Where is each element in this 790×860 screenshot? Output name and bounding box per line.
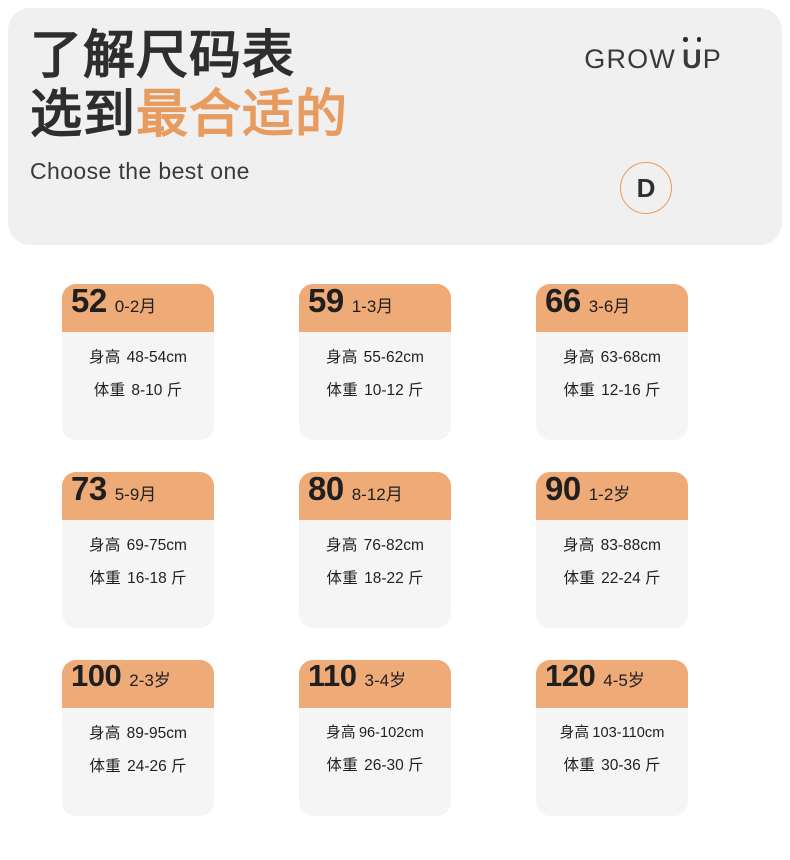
brand-logo-u-text: U [682,44,703,74]
size-card-body: 身高 103-110cm 体重 30-36 斤 [536,708,688,816]
weight-value: 8-10 斤 [131,378,182,400]
headline-line-2-dark-text: 选到 [30,86,136,144]
height-value: 96-102cm [359,725,424,741]
size-card-body: 身高 63-68cm 体重 12-16 斤 [536,332,688,440]
size-card-size: 120 [545,660,595,691]
weight-row: 体重 24-26 斤 [89,754,186,776]
height-row: 身高 76-82cm [326,533,424,555]
height-value: 69-75cm [127,537,187,555]
size-card-header: 73 5-9月 [62,472,214,520]
height-row: 身高 63-68cm [563,345,661,367]
weight-value: 10-12 斤 [364,378,423,400]
size-card-age: 8-12月 [352,486,403,503]
size-card-body: 身高 69-75cm 体重 16-18 斤 [62,520,214,628]
size-card-body: 身高 96-102cm 体重 26-30 斤 [299,708,451,816]
size-card[interactable]: 80 8-12月 身高 76-82cm 体重 18-22 斤 [299,472,451,628]
size-card-header: 120 4-5岁 [536,660,688,708]
height-value: 55-62cm [364,349,424,367]
height-value: 48-54cm [127,349,187,367]
size-card[interactable]: 110 3-4岁 身高 96-102cm 体重 26-30 斤 [299,660,451,816]
size-card[interactable]: 90 1-2岁 身高 83-88cm 体重 22-24 斤 [536,472,688,628]
brand-logo-grow-text: GROW [584,44,676,75]
height-label: 身高 [563,345,595,367]
size-card-size: 59 [308,284,344,317]
size-card-size: 80 [308,472,344,505]
size-card-header: 110 3-4岁 [299,660,451,708]
size-card-size: 100 [71,660,121,691]
badge-d: D [620,162,672,214]
height-label: 身高 [326,533,358,555]
weight-label: 体重 [89,754,121,776]
height-label: 身高 [326,345,358,367]
size-chart-page: 了解尺码表 选到最合适的 Choose the best one GROW U … [0,0,790,860]
weight-row: 体重 12-16 斤 [563,378,660,400]
size-card-age: 0-2月 [115,298,157,315]
weight-value: 22-24 斤 [601,566,660,588]
brand-logo-u-wrap: U [682,44,703,75]
height-row: 身高 55-62cm [326,345,424,367]
size-card-size: 73 [71,472,107,505]
size-card-age: 3-4岁 [365,672,407,689]
size-card-size: 52 [71,284,107,317]
size-card-header: 100 2-3岁 [62,660,214,708]
size-card-age: 2-3岁 [129,672,171,689]
size-card-age: 5-9月 [115,486,157,503]
height-label: 身高 [89,721,121,743]
weight-row: 体重 18-22 斤 [326,566,423,588]
size-card-header: 66 3-6月 [536,284,688,332]
size-card-header: 59 1-3月 [299,284,451,332]
weight-row: 体重 16-18 斤 [89,566,186,588]
weight-row: 体重 22-24 斤 [563,566,660,588]
weight-value: 12-16 斤 [601,378,660,400]
size-card-header: 52 0-2月 [62,284,214,332]
height-label: 身高 [560,721,590,742]
headline-subtitle: Choose the best one [30,158,550,185]
size-card-body: 身高 48-54cm 体重 8-10 斤 [62,332,214,440]
weight-row: 体重 10-12 斤 [326,378,423,400]
size-card-body: 身高 83-88cm 体重 22-24 斤 [536,520,688,628]
size-card-age: 4-5岁 [603,672,645,689]
height-label: 身高 [89,345,121,367]
headline-line-2: 选到最合适的 [30,89,550,142]
weight-label: 体重 [563,378,595,400]
weight-value: 26-30 斤 [364,753,423,775]
header-panel: 了解尺码表 选到最合适的 Choose the best one GROW U … [8,8,782,245]
size-card[interactable]: 120 4-5岁 身高 103-110cm 体重 30-36 斤 [536,660,688,816]
height-label: 身高 [563,533,595,555]
weight-label: 体重 [563,566,595,588]
weight-label: 体重 [326,753,358,775]
height-value: 83-88cm [601,537,661,555]
weight-value: 18-22 斤 [364,566,423,588]
weight-row: 体重 8-10 斤 [94,378,182,400]
weight-row: 体重 30-36 斤 [563,753,660,775]
height-value: 103-110cm [592,725,664,741]
size-card[interactable]: 59 1-3月 身高 55-62cm 体重 10-12 斤 [299,284,451,440]
brand-logo: GROW U P [584,44,722,75]
headline-block: 了解尺码表 选到最合适的 Choose the best one [30,30,550,185]
size-card[interactable]: 73 5-9月 身高 69-75cm 体重 16-18 斤 [62,472,214,628]
size-card-size: 110 [308,660,357,691]
height-label: 身高 [89,533,121,555]
size-card-age: 1-3月 [352,298,394,315]
size-card-body: 身高 89-95cm 体重 24-26 斤 [62,708,214,816]
weight-label: 体重 [89,566,121,588]
weight-label: 体重 [563,753,595,775]
height-value: 63-68cm [601,349,661,367]
umlaut-dots-icon [683,37,701,42]
size-card[interactable]: 52 0-2月 身高 48-54cm 体重 8-10 斤 [62,284,214,440]
size-card-grid: 52 0-2月 身高 48-54cm 体重 8-10 斤 59 1-3月 [62,284,728,816]
size-card-body: 身高 55-62cm 体重 10-12 斤 [299,332,451,440]
height-value: 89-95cm [127,725,187,743]
badge-d-letter: D [637,173,656,204]
height-row: 身高 103-110cm [560,721,665,742]
height-row: 身高 96-102cm [326,721,424,742]
height-row: 身高 48-54cm [89,345,187,367]
weight-value: 30-36 斤 [601,753,660,775]
size-card-body: 身高 76-82cm 体重 18-22 斤 [299,520,451,628]
height-row: 身高 69-75cm [89,533,187,555]
size-card-age: 3-6月 [589,298,631,315]
weight-label: 体重 [326,566,358,588]
size-card[interactable]: 100 2-3岁 身高 89-95cm 体重 24-26 斤 [62,660,214,816]
size-card-header: 80 8-12月 [299,472,451,520]
height-row: 身高 83-88cm [563,533,661,555]
headline-line-2-orange-text: 最合适的 [136,86,348,144]
size-card-header: 90 1-2岁 [536,472,688,520]
weight-label: 体重 [94,378,126,400]
brand-logo-p-text: P [703,44,722,75]
weight-row: 体重 26-30 斤 [326,753,423,775]
weight-value: 16-18 斤 [127,566,186,588]
weight-label: 体重 [326,378,358,400]
headline-line-1: 了解尺码表 [30,30,550,83]
size-card-size: 66 [545,284,581,317]
size-card-size: 90 [545,472,581,505]
height-label: 身高 [326,721,356,742]
size-card[interactable]: 66 3-6月 身高 63-68cm 体重 12-16 斤 [536,284,688,440]
height-row: 身高 89-95cm [89,721,187,743]
size-card-age: 1-2岁 [589,486,631,503]
weight-value: 24-26 斤 [127,754,186,776]
height-value: 76-82cm [364,537,424,555]
headline-line-1-text: 了解尺码表 [30,27,295,85]
